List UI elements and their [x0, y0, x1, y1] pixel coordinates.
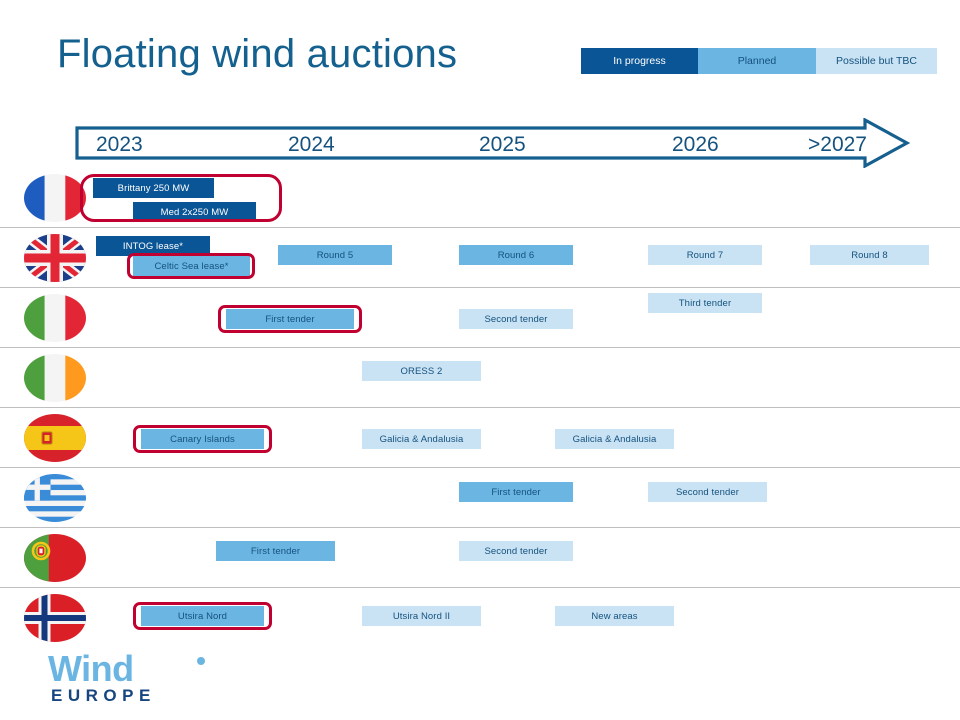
logo-wind-text: Wind [48, 651, 134, 687]
country-row-france: Brittany 250 MWMed 2x250 MW [0, 168, 960, 228]
country-row-united-kingdom: INTOG lease*Celtic Sea lease*Round 5Roun… [0, 228, 960, 288]
auction-bar[interactable]: Second tender [648, 482, 767, 502]
auction-bar[interactable]: First tender [216, 541, 335, 561]
legend-item-planned: Planned [698, 48, 816, 74]
timeline-year-2023: 2023 [96, 133, 143, 157]
auction-bar[interactable]: ORESS 2 [362, 361, 481, 381]
uk-flag [24, 234, 86, 282]
auction-bar[interactable]: INTOG lease* [96, 236, 210, 256]
auction-bar[interactable]: First tender [226, 309, 354, 329]
auction-bar[interactable]: Round 8 [810, 245, 929, 265]
slide-root: Floating wind auctions In progress Plann… [0, 0, 960, 720]
auction-bar[interactable]: Celtic Sea lease* [133, 256, 250, 276]
timeline-year-2027-plus: >2027 [808, 133, 867, 157]
auction-bar[interactable]: Brittany 250 MW [93, 178, 214, 198]
timeline-year-2024: 2024 [288, 133, 335, 157]
auction-bar[interactable]: Round 5 [278, 245, 392, 265]
auction-bar[interactable]: Third tender [648, 293, 762, 313]
timeline-arrow: 2023 2024 2025 2026 >2027 [75, 118, 910, 168]
logo-europe-text: EUROPE [51, 687, 156, 705]
country-row-portugal: First tenderSecond tender [0, 528, 960, 588]
windeurope-logo: Wind EUROPE [48, 651, 228, 707]
spain-flag [24, 414, 86, 462]
auction-bar[interactable]: Round 6 [459, 245, 573, 265]
timeline-year-2026: 2026 [672, 133, 719, 157]
country-row-spain: Canary IslandsGalicia & AndalusiaGalicia… [0, 408, 960, 468]
legend-item-possible-tbc: Possible but TBC [816, 48, 937, 74]
timeline-year-2025: 2025 [479, 133, 526, 157]
auction-bar[interactable]: Second tender [459, 541, 573, 561]
auction-bar[interactable]: First tender [459, 482, 573, 502]
france-flag [24, 174, 86, 222]
country-row-norway: Utsira NordUtsira Nord IINew areas [0, 588, 960, 648]
ireland-flag [24, 354, 86, 402]
auction-bar[interactable]: Galicia & Andalusia [555, 429, 674, 449]
italy-flag [24, 294, 86, 342]
country-rows: Brittany 250 MWMed 2x250 MWINTOG lease*C… [0, 168, 960, 648]
greece-flag [24, 474, 86, 522]
auction-bar[interactable]: Canary Islands [141, 429, 264, 449]
auction-bar[interactable]: New areas [555, 606, 674, 626]
norway-flag [24, 594, 86, 642]
country-row-greece: First tenderSecond tender [0, 468, 960, 528]
status-legend: In progress Planned Possible but TBC [581, 48, 937, 74]
portugal-flag [24, 534, 86, 582]
country-row-ireland: ORESS 2 [0, 348, 960, 408]
country-row-italy: First tenderSecond tenderThird tender [0, 288, 960, 348]
logo-dot-icon [197, 657, 205, 665]
auction-bar[interactable]: Second tender [459, 309, 573, 329]
auction-bar[interactable]: Round 7 [648, 245, 762, 265]
auction-bar[interactable]: Utsira Nord II [362, 606, 481, 626]
auction-bar[interactable]: Galicia & Andalusia [362, 429, 481, 449]
timeline-years: 2023 2024 2025 2026 >2027 [75, 118, 910, 168]
legend-item-in-progress: In progress [581, 48, 698, 74]
page-title: Floating wind auctions [57, 32, 457, 77]
auction-bar[interactable]: Med 2x250 MW [133, 202, 256, 222]
auction-bar[interactable]: Utsira Nord [141, 606, 264, 626]
